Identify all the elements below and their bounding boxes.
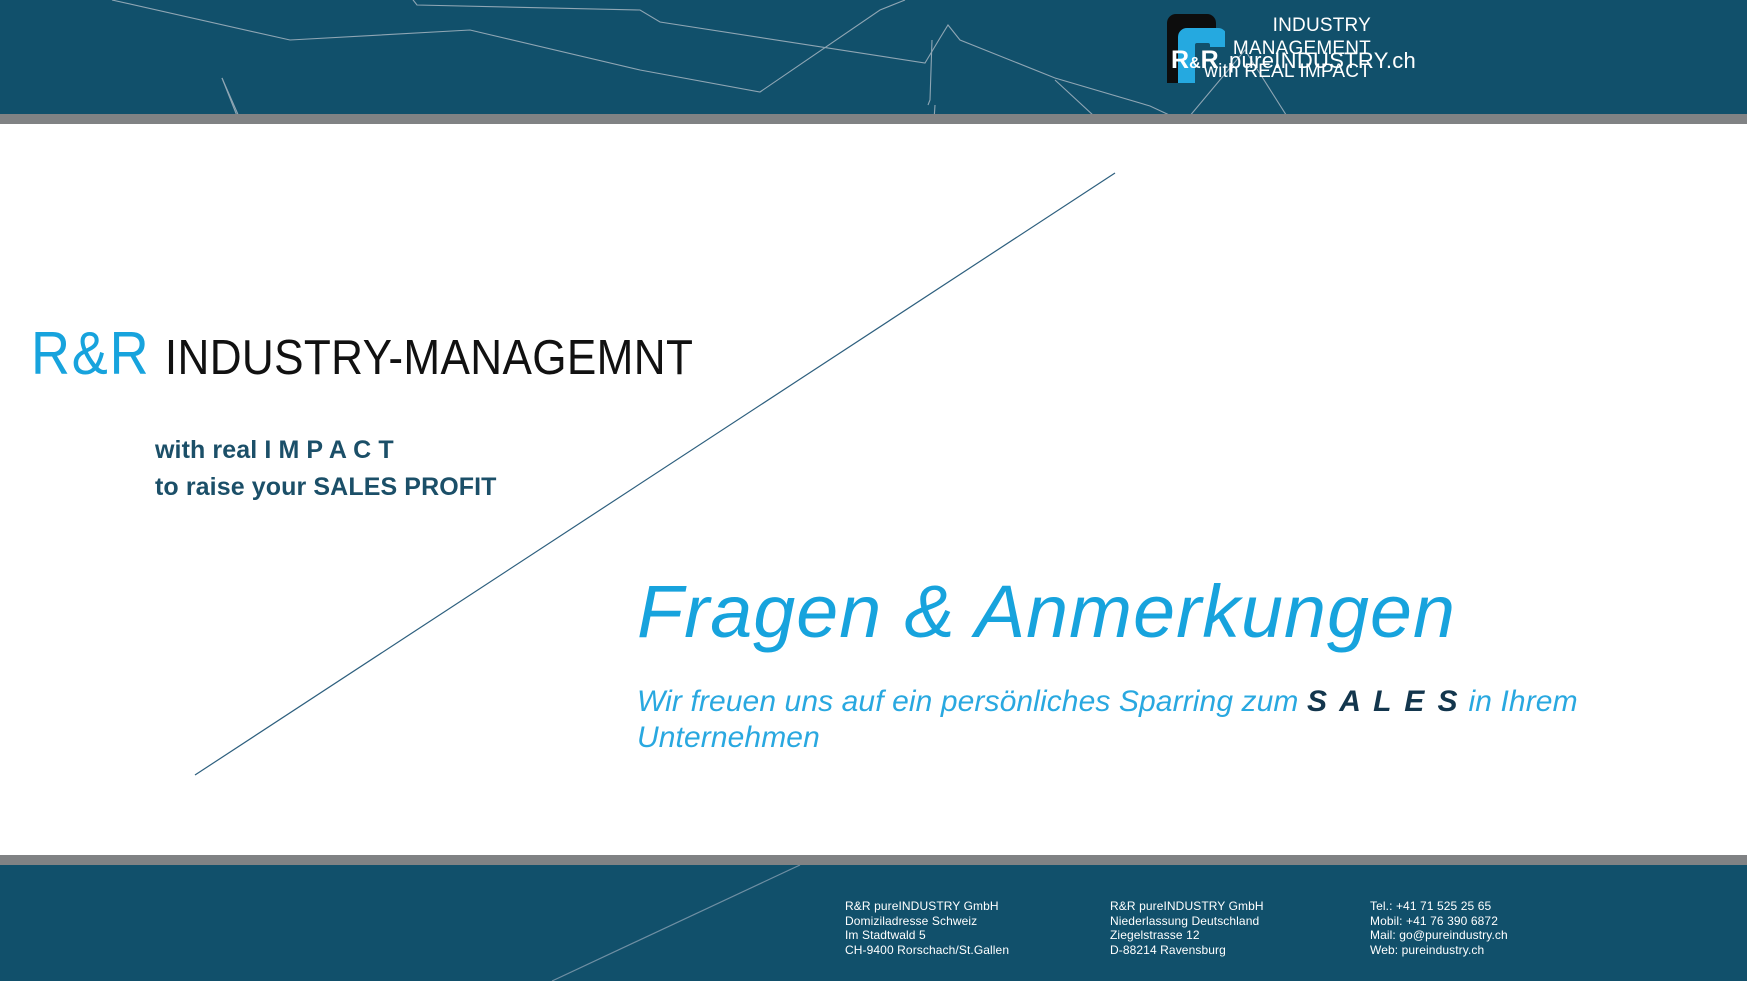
logo-line-industry: INDUSTRY bbox=[1204, 14, 1371, 37]
logo-rr-text: R&R bbox=[1171, 46, 1219, 75]
subparagraph-part-1: Wir freuen uns auf ein persönliches Spar… bbox=[637, 685, 1307, 718]
footer-line-web[interactable]: Web: pureindustry.ch bbox=[1370, 943, 1630, 958]
footer-line-mobile: Mobil: +41 76 390 6872 bbox=[1370, 914, 1630, 929]
page-title: R&R INDUSTRY-MANAGEMNT bbox=[31, 319, 693, 388]
page-title-accent: R&R bbox=[31, 320, 150, 387]
slide-footer: R&R pureINDUSTRY GmbH Domiziladresse Sch… bbox=[0, 865, 1747, 981]
footer-contact-columns: R&R pureINDUSTRY GmbH Domiziladresse Sch… bbox=[845, 899, 1630, 957]
footer-column-contact-details: Tel.: +41 71 525 25 65 Mobil: +41 76 390… bbox=[1370, 899, 1630, 957]
presentation-slide: INDUSTRY MANAGEMENT with REAL IMPACT R&R… bbox=[0, 0, 1747, 981]
logo-domain-text: pureINDUSTRY.ch bbox=[1229, 48, 1416, 74]
footer-line: Niederlassung Deutschland bbox=[1110, 914, 1370, 929]
footer-line: Domiziladresse Schweiz bbox=[845, 914, 1110, 929]
footer-line: CH-9400 Rorschach/St.Gallen bbox=[845, 943, 1110, 958]
footer-line: Ziegelstrasse 12 bbox=[1110, 928, 1370, 943]
footer-column-address-switzerland: R&R pureINDUSTRY GmbH Domiziladresse Sch… bbox=[845, 899, 1110, 957]
footer-line-tel: Tel.: +41 71 525 25 65 bbox=[1370, 899, 1630, 914]
footer-divider-rule bbox=[0, 855, 1747, 865]
logo-rr-letter-2: R bbox=[1201, 46, 1219, 74]
footer-line: R&R pureINDUSTRY GmbH bbox=[1110, 899, 1370, 914]
claim-text: with real I M P A C T to raise your SALE… bbox=[155, 432, 497, 506]
page-title-rest: INDUSTRY-MANAGEMNT bbox=[165, 331, 693, 385]
mountain-line-graphic bbox=[0, 0, 1747, 114]
footer-line: Im Stadtwald 5 bbox=[845, 928, 1110, 943]
claim-line-1: with real I M P A C T bbox=[155, 432, 497, 469]
logo-rr-letter-1: R bbox=[1171, 46, 1189, 74]
slide-header: INDUSTRY MANAGEMENT with REAL IMPACT R&R… bbox=[0, 0, 1747, 114]
slide-subparagraph: Wir freuen uns auf ein persönliches Spar… bbox=[637, 684, 1722, 756]
claim-line-2: to raise your SALES PROFIT bbox=[155, 469, 497, 506]
slide-headline: Fragen & Anmerkungen bbox=[637, 571, 1741, 653]
header-divider-rule bbox=[0, 114, 1747, 124]
slide-body: R&R INDUSTRY-MANAGEMNT with real I M P A… bbox=[0, 124, 1747, 855]
footer-line: R&R pureINDUSTRY GmbH bbox=[845, 899, 1110, 914]
logo-rr-ampersand: & bbox=[1189, 55, 1201, 72]
footer-line: D-88214 Ravensburg bbox=[1110, 943, 1370, 958]
footer-line-mail[interactable]: Mail: go@pureindustry.ch bbox=[1370, 928, 1630, 943]
subparagraph-emphasis: S A L E S bbox=[1307, 685, 1460, 718]
footer-column-address-germany: R&R pureINDUSTRY GmbH Niederlassung Deut… bbox=[1110, 899, 1370, 957]
